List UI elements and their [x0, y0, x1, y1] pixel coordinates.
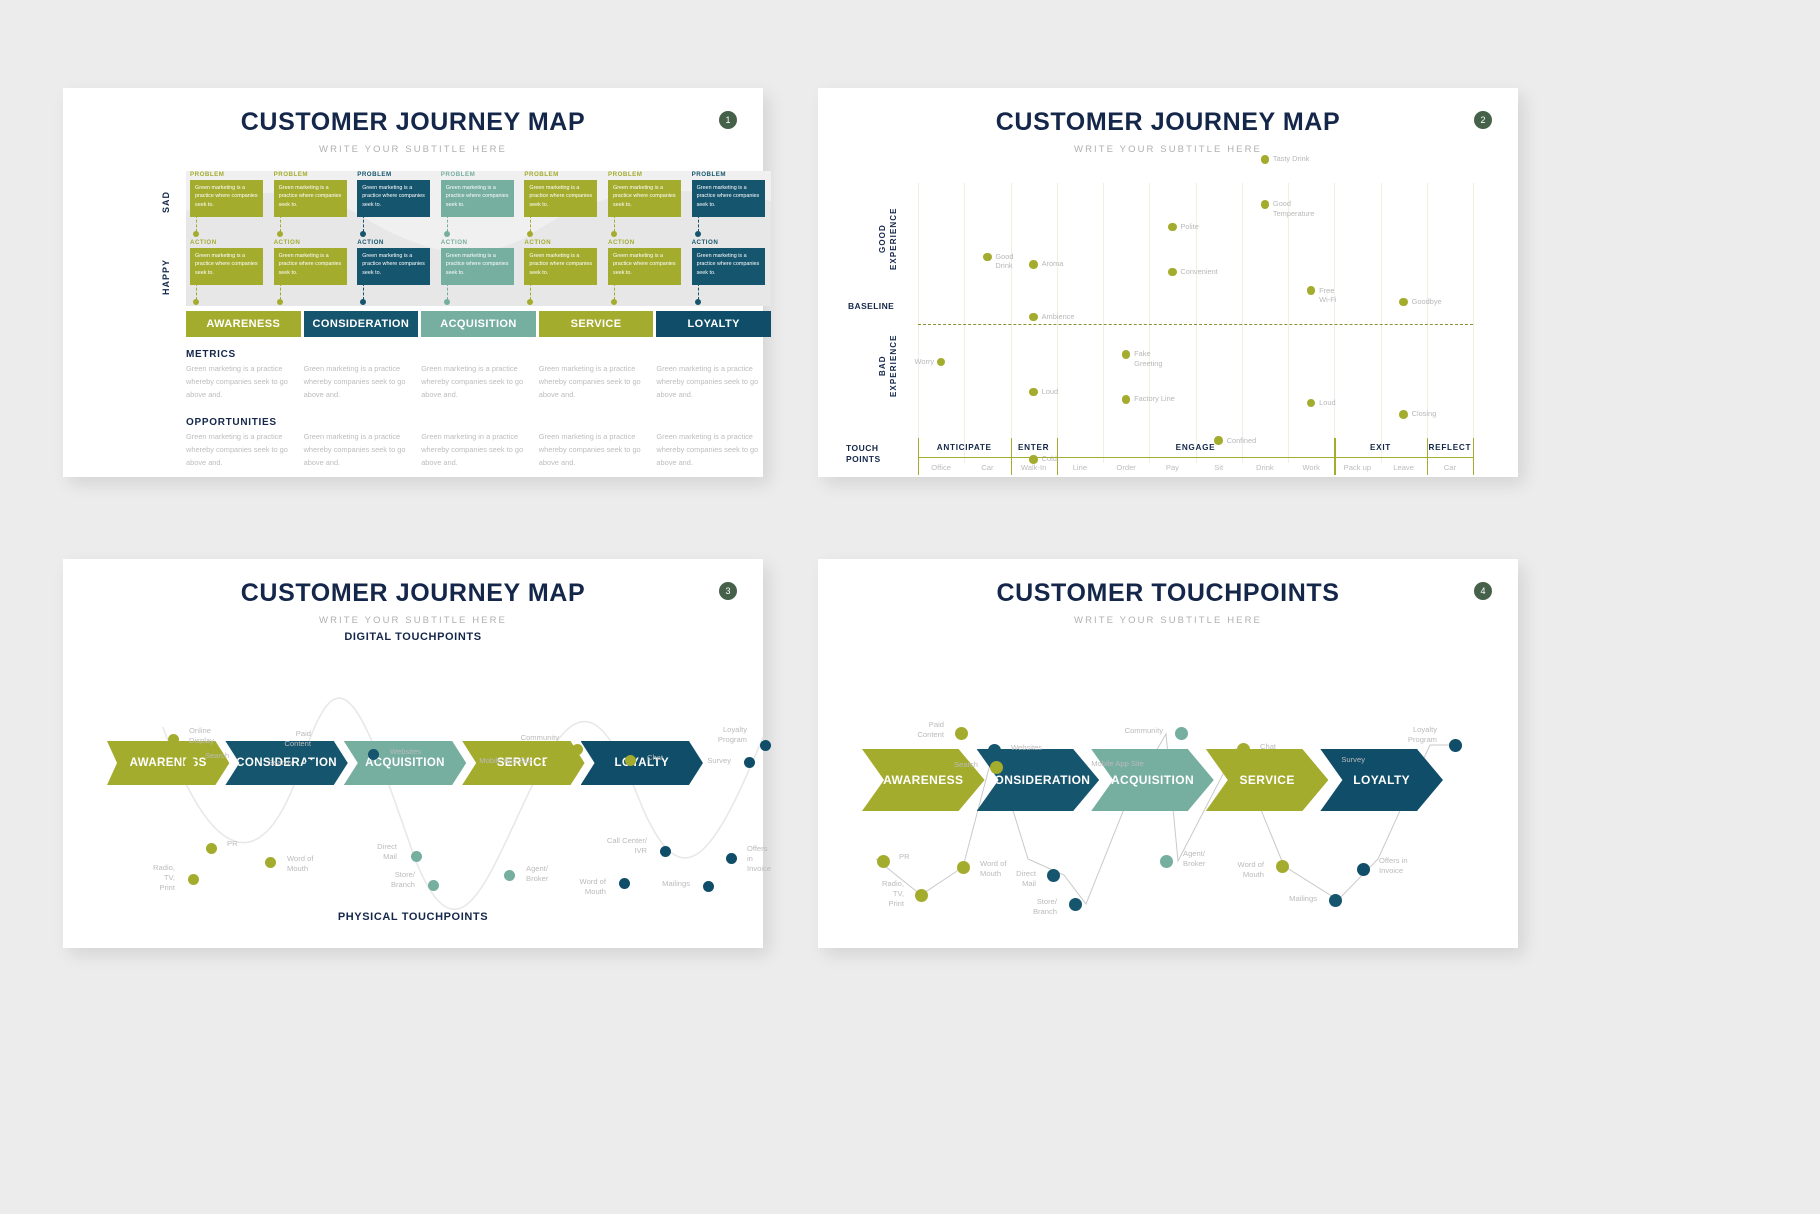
top-touchpoint-node[interactable] — [1156, 759, 1169, 772]
digital-touchpoint-node[interactable] — [625, 755, 636, 766]
bottom-touchpoint-node[interactable] — [1357, 863, 1370, 876]
card-heading: PROBLEM — [274, 171, 347, 178]
slide-number-badge: 2 — [1474, 111, 1492, 129]
data-point[interactable] — [1261, 200, 1270, 209]
card-connector — [280, 283, 281, 300]
card-connector — [447, 283, 448, 300]
node-label: PaidContent — [917, 720, 944, 740]
data-point-label: Tasty Drink — [1273, 154, 1310, 164]
problem-card[interactable]: PROBLEMGreen marketing is a practice whe… — [274, 171, 347, 217]
touchpoint-item[interactable]: Car — [1427, 463, 1473, 472]
slide-number-badge: 3 — [719, 582, 737, 600]
bottom-touchpoint-node[interactable] — [1047, 869, 1060, 882]
phase-engage: ENGAGE — [1057, 443, 1335, 452]
card-body: Green marketing is a practice where comp… — [274, 180, 347, 217]
action-card[interactable]: ACTIONGreen marketing is a practice wher… — [274, 239, 347, 285]
problem-card[interactable]: PROBLEMGreen marketing is a practice whe… — [608, 171, 681, 217]
physical-touchpoint-node[interactable] — [428, 880, 439, 891]
node-label: Community — [1125, 726, 1163, 736]
physical-touchpoint-node[interactable] — [619, 878, 630, 889]
phase-divider — [1473, 438, 1474, 475]
node-label: Mailings — [1289, 894, 1317, 904]
stage-awareness[interactable]: AWARENESS — [186, 311, 301, 337]
physical-touchpoint-node[interactable] — [660, 846, 671, 857]
bottom-touchpoint-node[interactable] — [877, 855, 890, 868]
top-touchpoint-node[interactable] — [1175, 727, 1188, 740]
card-heading: ACTION — [692, 239, 765, 246]
data-point-label: Goodbye — [1412, 297, 1442, 307]
slide-customer-journey-map-1[interactable]: 1 CUSTOMER JOURNEY MAP WRITE YOUR SUBTIT… — [63, 88, 763, 477]
data-point[interactable] — [1029, 260, 1038, 269]
slide-customer-journey-map-2[interactable]: 2 CUSTOMER JOURNEY MAP WRITE YOUR SUBTIT… — [818, 88, 1518, 477]
metrics-heading: METRICS — [186, 349, 236, 360]
node-label: Chat — [1260, 742, 1276, 752]
node-label: Word ofMouth — [980, 859, 1006, 879]
phase-anticipate: ANTICIPATE — [918, 443, 1011, 452]
gridline — [1242, 183, 1243, 463]
card-body: Green marketing is a practice where comp… — [190, 180, 263, 217]
gridline — [1149, 183, 1150, 463]
card-heading: ACTION — [274, 239, 347, 246]
action-card[interactable]: ACTIONGreen marketing is a practice wher… — [357, 239, 430, 285]
data-point[interactable] — [1122, 350, 1131, 359]
data-point-label: Loud — [1319, 398, 1335, 408]
gridline — [1381, 183, 1382, 463]
node-label: Word ofMouth — [1238, 860, 1264, 880]
physical-touchpoint-node[interactable] — [411, 851, 422, 862]
node-label: Store/Branch — [391, 870, 415, 890]
card-dot — [695, 299, 701, 305]
slide-number-badge: 4 — [1474, 582, 1492, 600]
card-connector — [280, 215, 281, 232]
cell-text: Green marketing is a practice whereby co… — [421, 363, 536, 402]
top-touchpoint-node[interactable] — [990, 761, 1003, 774]
card-body: Green marketing is a practice where comp… — [274, 248, 347, 285]
data-point[interactable] — [983, 253, 992, 262]
phase-enter: ENTER — [1011, 443, 1057, 452]
card-body: Green marketing is a practice where comp… — [524, 180, 597, 217]
digital-touchpoint-node[interactable] — [324, 741, 335, 752]
touchpoint-item[interactable]: Leave — [1381, 463, 1427, 472]
axis-line — [918, 457, 1473, 458]
data-point[interactable] — [1122, 395, 1131, 404]
physical-touchpoint-node[interactable] — [504, 870, 515, 881]
stage-service[interactable]: SERVICE — [539, 311, 654, 337]
node-label: Offers inInvoice — [747, 844, 771, 874]
action-card[interactable]: ACTIONGreen marketing is a practice wher… — [692, 239, 765, 285]
card-dot — [611, 231, 617, 237]
cell-text: Green marketing is a practice whereby co… — [304, 431, 419, 470]
node-label: Websites — [1011, 743, 1042, 753]
action-card[interactable]: ACTIONGreen marketing is a practice wher… — [190, 239, 263, 285]
data-point-label: Ambience — [1042, 312, 1075, 322]
card-body: Green marketing is a practice where comp… — [441, 180, 514, 217]
top-touchpoint-node[interactable] — [955, 727, 968, 740]
physical-touchpoints-heading: PHYSICAL TOUCHPOINTS — [63, 911, 763, 923]
stage-acquisition[interactable]: ACQUISITION — [421, 311, 536, 337]
node-label: DirectMail — [1016, 869, 1036, 889]
data-point-label: Worry — [915, 357, 935, 367]
phase-reflect: REFLECT — [1427, 443, 1473, 452]
cell-text: Green marketing is a practice whereby co… — [656, 431, 771, 470]
top-touchpoint-node[interactable] — [1377, 755, 1390, 768]
digital-touchpoint-node[interactable] — [744, 757, 755, 768]
digital-touchpoint-node[interactable] — [572, 744, 583, 755]
node-label: Survey — [707, 756, 731, 766]
page-subtitle: WRITE YOUR SUBTITLE HERE — [63, 144, 763, 155]
card-heading: PROBLEM — [441, 171, 514, 178]
cell-text: Green marketing is a practice whereby co… — [539, 363, 654, 402]
card-connector — [196, 283, 197, 300]
cell-text: Green marketing is a practice whereby co… — [656, 363, 771, 402]
card-connector — [698, 283, 699, 300]
node-label: Agent/Broker — [526, 864, 548, 884]
data-point-label: FreeWi-Fi — [1319, 286, 1336, 305]
card-body: Green marketing is a practice where comp… — [692, 180, 765, 217]
touchpoint-item[interactable]: Office — [918, 463, 964, 472]
baseline-line — [918, 324, 1473, 325]
opportunities-heading: OPPORTUNITIES — [186, 417, 277, 428]
page-subtitle: WRITE YOUR SUBTITLE HERE — [818, 144, 1518, 155]
card-connector — [196, 215, 197, 232]
data-point-label: Polite — [1180, 222, 1199, 232]
node-label: Mobile App Site — [479, 756, 532, 766]
digital-touchpoint-node[interactable] — [168, 734, 179, 745]
data-point-label: Closing — [1412, 409, 1437, 419]
node-label: Websites — [390, 747, 421, 757]
metrics-row: Green marketing is a practice whereby co… — [186, 363, 771, 402]
physical-touchpoint-node[interactable] — [206, 843, 217, 854]
card-body: Green marketing is a practice where comp… — [357, 248, 430, 285]
node-label: Call Center/IVR — [607, 836, 647, 856]
opportunities-row: Green marketing is a practice whereby co… — [186, 431, 771, 470]
cell-text: Green marketing is a practice whereby co… — [186, 431, 301, 470]
gridline — [1288, 183, 1289, 463]
node-label: Agent/Broker — [1183, 849, 1205, 869]
data-point[interactable] — [1168, 268, 1177, 277]
node-label: PR — [899, 852, 910, 862]
gridline — [1427, 183, 1428, 463]
bottom-touchpoint-node[interactable] — [1329, 894, 1342, 907]
slide-number-badge: 1 — [719, 111, 737, 129]
node-label: Word ofMouth — [580, 877, 606, 897]
card-dot — [444, 299, 450, 305]
card-body: Green marketing is a practice where comp… — [441, 248, 514, 285]
problem-card[interactable]: PROBLEMGreen marketing is a practice whe… — [524, 171, 597, 217]
node-label: Search — [268, 758, 292, 768]
action-card[interactable]: ACTIONGreen marketing is a practice wher… — [524, 239, 597, 285]
data-point[interactable] — [937, 358, 946, 367]
card-connector — [530, 215, 531, 232]
card-heading: ACTION — [357, 239, 430, 246]
node-label: Community — [521, 733, 559, 743]
data-point[interactable] — [1168, 223, 1177, 232]
card-connector — [447, 215, 448, 232]
stage-consideration[interactable]: CONSIDERATION — [304, 311, 419, 337]
stage-awareness[interactable]: AWARENESS — [107, 741, 229, 785]
node-label: OnlineDisplay — [189, 726, 214, 746]
stage-service[interactable]: SERVICE — [1206, 749, 1329, 811]
problem-card[interactable]: PROBLEMGreen marketing is a practice whe… — [441, 171, 514, 217]
data-point[interactable] — [1029, 388, 1038, 397]
data-point-label: GoodDrink — [995, 252, 1013, 271]
card-body: Green marketing is a practice where comp… — [692, 248, 765, 285]
slide-customer-touchpoints-4[interactable]: 4 CUSTOMER TOUCHPOINTS WRITE YOUR SUBTIT… — [818, 559, 1518, 948]
card-dot — [193, 231, 199, 237]
axis-label-good-experience: GOOD EXPERIENCE — [878, 199, 900, 279]
node-label: LoyaltyProgram — [718, 725, 747, 745]
data-point-label: GoodTemperature — [1273, 199, 1315, 218]
card-body: Green marketing is a practice where comp… — [190, 248, 263, 285]
top-touchpoint-node[interactable] — [988, 744, 1001, 757]
digital-touchpoint-node[interactable] — [368, 749, 379, 760]
data-point-label: Factory Line — [1134, 394, 1175, 404]
touchpoint-item[interactable]: Order — [1103, 463, 1149, 472]
bottom-touchpoint-node[interactable] — [915, 889, 928, 902]
touchpoint-item[interactable]: Pay — [1149, 463, 1195, 472]
page-subtitle: WRITE YOUR SUBTITLE HERE — [63, 615, 763, 626]
card-connector — [698, 215, 699, 232]
gridline — [964, 183, 965, 463]
data-point-label: Loud — [1042, 387, 1058, 397]
node-label: PR — [227, 839, 238, 849]
card-dot — [193, 299, 199, 305]
card-connector — [614, 215, 615, 232]
card-heading: ACTION — [441, 239, 514, 246]
top-touchpoint-node[interactable] — [1449, 739, 1462, 752]
node-label: Radio,TV,Print — [153, 863, 175, 893]
problem-card[interactable]: PROBLEMGreen marketing is a practice whe… — [190, 171, 263, 217]
card-heading: PROBLEM — [692, 171, 765, 178]
touchpoint-item[interactable]: Car — [964, 463, 1010, 472]
card-connector — [530, 283, 531, 300]
axis-label-bad-experience: BAD EXPERIENCE — [878, 326, 900, 406]
touchpoint-item[interactable]: Work — [1288, 463, 1334, 472]
touchpoint-item[interactable]: Walk-In — [1011, 463, 1057, 472]
card-connector — [614, 283, 615, 300]
card-heading: ACTION — [190, 239, 263, 246]
physical-touchpoint-node[interactable] — [726, 853, 737, 864]
card-dot — [277, 299, 283, 305]
node-label: Mobile App Site — [1091, 759, 1144, 769]
top-touchpoint-node[interactable] — [1237, 743, 1250, 756]
stage-loyalty[interactable]: LOYALTY — [581, 741, 703, 785]
problem-card[interactable]: PROBLEMGreen marketing is a practice whe… — [692, 171, 765, 217]
card-dot — [695, 231, 701, 237]
action-card[interactable]: ACTIONGreen marketing is a practice wher… — [608, 239, 681, 285]
data-point[interactable] — [1261, 155, 1270, 164]
digital-touchpoint-node[interactable] — [184, 757, 195, 768]
node-label: Word ofMouth — [287, 854, 313, 874]
digital-touchpoints-heading: DIGITAL TOUCHPOINTS — [63, 631, 763, 643]
node-label: Chat — [647, 753, 663, 763]
page-subtitle: WRITE YOUR SUBTITLE HERE — [818, 615, 1518, 626]
data-point[interactable] — [1399, 298, 1408, 307]
axis-label-baseline: BASELINE — [848, 301, 894, 311]
data-point[interactable] — [1307, 399, 1316, 408]
digital-touchpoint-node[interactable] — [760, 740, 771, 751]
stage-bar[interactable]: AWARENESSCONSIDERATIONACQUISITIONSERVICE… — [186, 311, 771, 337]
card-dot — [444, 231, 450, 237]
problem-card[interactable]: PROBLEMGreen marketing is a practice whe… — [357, 171, 430, 217]
node-label: DirectMail — [377, 842, 397, 862]
card-heading: PROBLEM — [608, 171, 681, 178]
data-point-label: Convenient — [1180, 267, 1217, 277]
slide-customer-journey-map-3[interactable]: 3 CUSTOMER JOURNEY MAP WRITE YOUR SUBTIT… — [63, 559, 763, 948]
node-label: Offers inInvoice — [1379, 856, 1408, 876]
card-heading: PROBLEM — [190, 171, 263, 178]
node-label: LoyaltyProgram — [1408, 725, 1437, 745]
page-title: CUSTOMER JOURNEY MAP — [63, 108, 763, 137]
stage-consideration[interactable]: CONSIDERATION — [977, 749, 1100, 811]
stage-loyalty[interactable]: LOYALTY — [656, 311, 771, 337]
card-body: Green marketing is a practice where comp… — [608, 180, 681, 217]
card-heading: ACTION — [608, 239, 681, 246]
card-body: Green marketing is a practice where comp… — [524, 248, 597, 285]
data-point[interactable] — [1399, 410, 1408, 419]
cell-text: Green marketing is a practice whereby co… — [186, 363, 301, 402]
node-label: Mailings — [662, 879, 690, 889]
touchpoint-item[interactable]: Line — [1057, 463, 1103, 472]
touchpoint-item[interactable]: Sit — [1196, 463, 1242, 472]
cell-text: Green marketing is a practice whereby co… — [539, 431, 654, 470]
card-body: Green marketing is a practice where comp… — [608, 248, 681, 285]
touchpoint-item[interactable]: Pack up — [1334, 463, 1380, 472]
physical-touchpoint-node[interactable] — [188, 874, 199, 885]
card-dot — [277, 231, 283, 237]
node-label: Search — [205, 751, 229, 761]
stage-awareness[interactable]: AWARENESS — [862, 749, 985, 811]
card-connector — [363, 215, 364, 232]
data-point-label: Aroma — [1042, 259, 1064, 269]
card-heading: ACTION — [524, 239, 597, 246]
experience-scatter-chart: GOOD EXPERIENCE BASELINE BAD EXPERIENCE … — [818, 171, 1518, 501]
axis-label-sad: SAD — [161, 191, 171, 213]
page-title: CUSTOMER JOURNEY MAP — [63, 579, 763, 608]
axis-label-happy: HAPPY — [161, 259, 171, 295]
data-point[interactable] — [1307, 286, 1316, 295]
page-title: CUSTOMER JOURNEY MAP — [818, 108, 1518, 137]
node-label: Search — [954, 760, 978, 770]
touchpoint-item[interactable]: Drink — [1242, 463, 1288, 472]
cell-text: Green marketing in a practice whereby co… — [421, 431, 536, 470]
card-body: Green marketing is a practice where comp… — [357, 180, 430, 217]
gridline — [918, 183, 919, 463]
gridline — [1103, 183, 1104, 463]
gridline — [1334, 183, 1335, 463]
card-connector — [363, 283, 364, 300]
bottom-touchpoint-node[interactable] — [1069, 898, 1082, 911]
node-label: Radio,TV,Print — [882, 879, 904, 909]
touchpoints-title: TOUCHPOINTS — [846, 443, 881, 466]
cell-text: Green marketing is a practice whereby co… — [304, 363, 419, 402]
action-card[interactable]: ACTIONGreen marketing is a practice wher… — [441, 239, 514, 285]
bottom-touchpoint-node[interactable] — [1160, 855, 1173, 868]
card-heading: PROBLEM — [357, 171, 430, 178]
node-label: Survey — [1341, 755, 1365, 765]
node-label: Store/Branch — [1033, 897, 1057, 917]
data-point-label: FakeGreeting — [1134, 349, 1162, 368]
card-heading: PROBLEM — [524, 171, 597, 178]
bottom-touchpoint-node[interactable] — [1276, 860, 1289, 873]
digital-touchpoint-node[interactable] — [545, 757, 556, 768]
gridline — [1473, 183, 1474, 463]
node-label: PaidContent — [284, 729, 311, 749]
physical-touchpoint-node[interactable] — [265, 857, 276, 868]
gridline — [1011, 183, 1012, 463]
card-dot — [611, 299, 617, 305]
physical-touchpoint-node[interactable] — [703, 881, 714, 892]
phase-exit: EXIT — [1334, 443, 1427, 452]
data-point[interactable] — [1029, 313, 1038, 322]
bottom-touchpoint-node[interactable] — [957, 861, 970, 874]
digital-touchpoint-node[interactable] — [305, 760, 316, 771]
gridline — [1057, 183, 1058, 463]
page-title: CUSTOMER TOUCHPOINTS — [818, 579, 1518, 608]
